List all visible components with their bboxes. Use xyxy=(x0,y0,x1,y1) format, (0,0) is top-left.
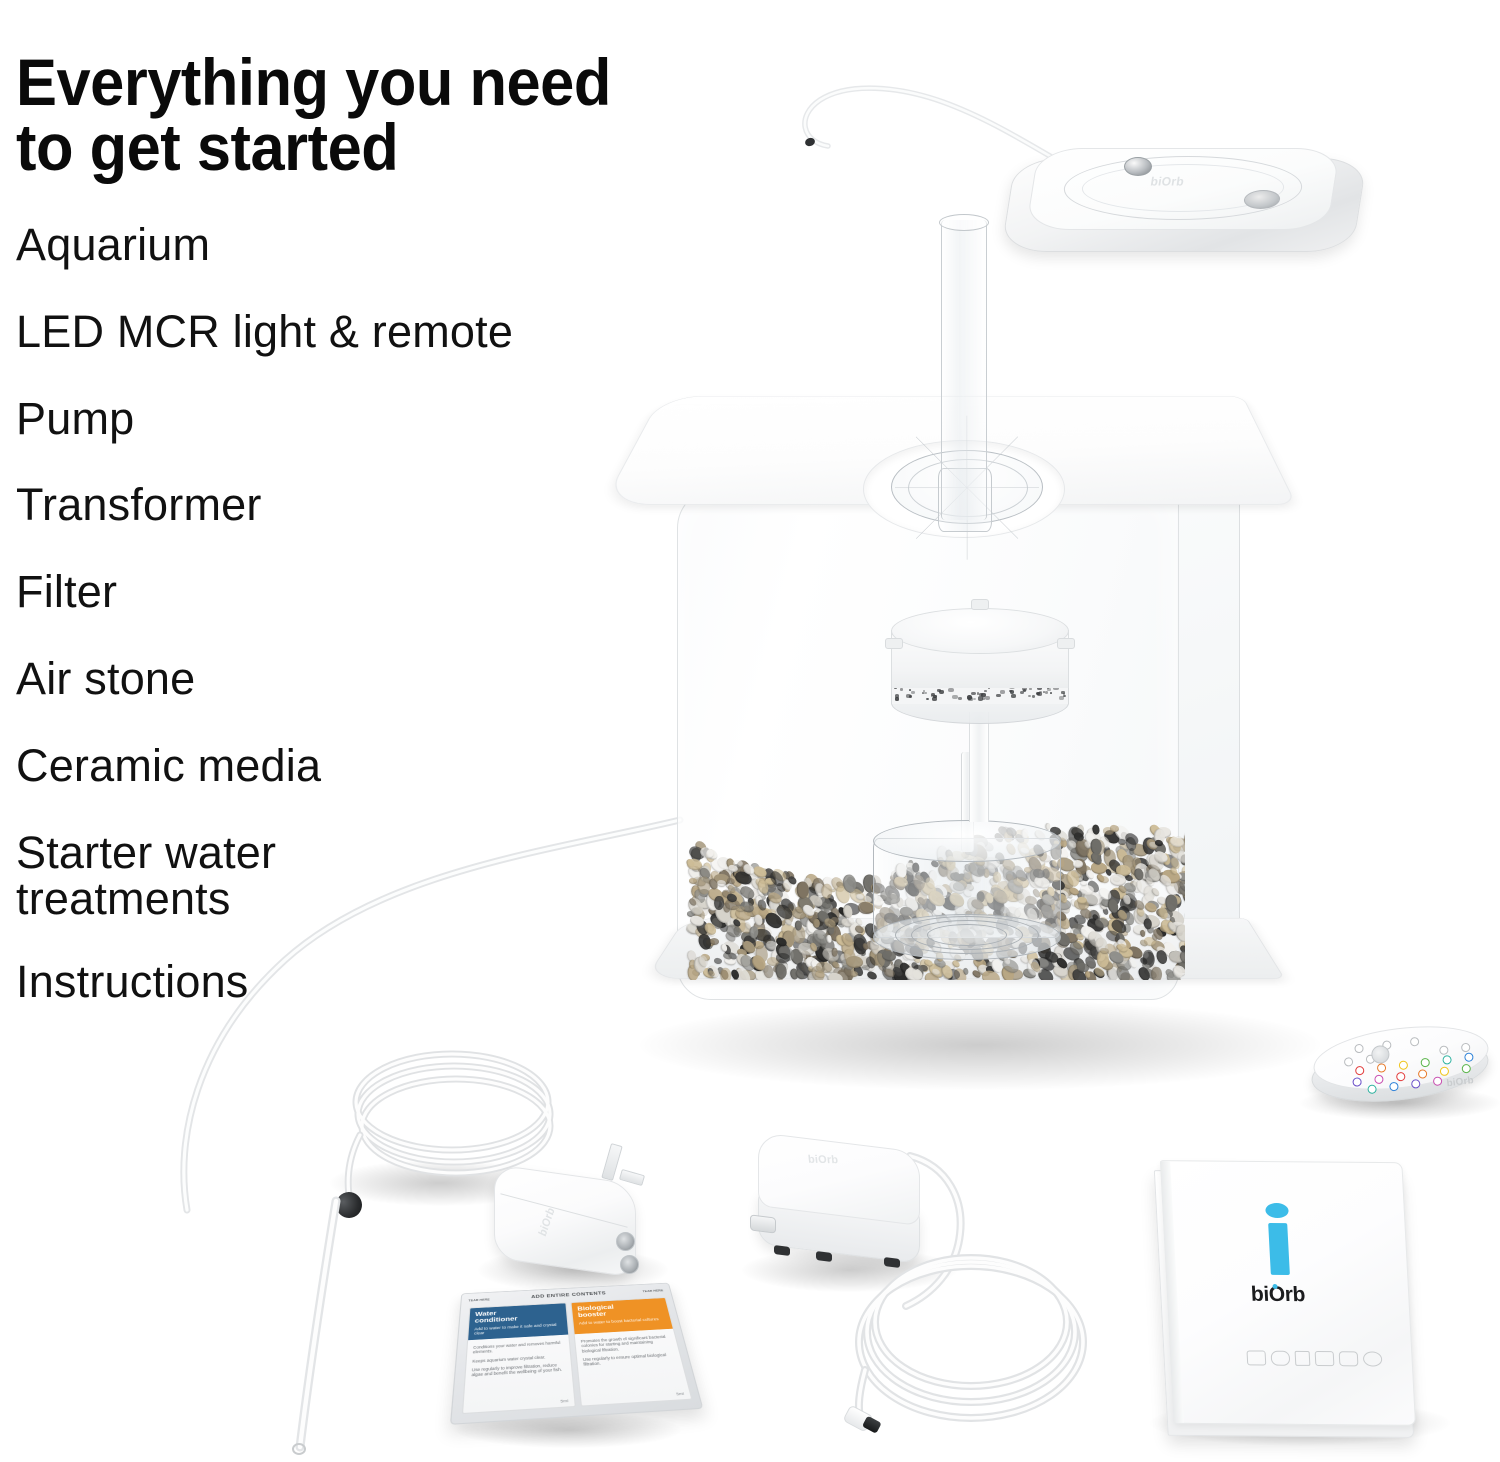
product-outline-icon-5 xyxy=(1339,1351,1359,1366)
remote-button[interactable] xyxy=(1352,1077,1362,1087)
ceramic-pebble xyxy=(866,970,878,980)
list-item-starter-water-treatments: Starter water treatments xyxy=(16,830,716,924)
remote-button[interactable] xyxy=(1374,1074,1384,1084)
list-item-filter: Filter xyxy=(16,569,716,616)
ceramic-pebble xyxy=(1154,839,1163,846)
carbon-granule xyxy=(1011,694,1016,698)
carbon-granule xyxy=(1010,690,1015,694)
list-item-ceramic-media: Ceramic media xyxy=(16,743,716,790)
biorb-logo-o: O xyxy=(1268,1283,1285,1307)
list-item-aquarium: Aquarium xyxy=(16,222,716,269)
included-items-list: Aquarium LED MCR light & remote Pump Tra… xyxy=(16,222,716,1046)
carbon-granule xyxy=(1028,695,1031,697)
biorb-logo: biOrb xyxy=(1446,1075,1474,1089)
carbon-granule xyxy=(984,690,986,692)
booklet-product-icon-row xyxy=(1246,1350,1382,1366)
sachet-right-bullet-1: Promotes the growth of significant bacte… xyxy=(581,1334,673,1353)
remote-button[interactable] xyxy=(1410,1037,1420,1047)
carbon-granule xyxy=(978,696,984,700)
list-item-instructions: Instructions xyxy=(16,959,716,1006)
list-item-pump: Pump xyxy=(16,396,716,443)
carbon-granule xyxy=(1020,691,1024,695)
remote-button[interactable] xyxy=(1355,1066,1365,1076)
ceramic-pebble xyxy=(1098,875,1109,884)
carbon-granule xyxy=(1047,688,1051,691)
list-item-led-mcr-light-remote: LED MCR light & remote xyxy=(16,309,716,356)
transformer-output-socket-2 xyxy=(620,1255,639,1274)
remote-button[interactable] xyxy=(1344,1057,1354,1067)
sachet-water-conditioner: Water conditioner Add to water to make i… xyxy=(462,1302,576,1414)
sachet-biological-booster: Biological booster Add to water to boost… xyxy=(570,1297,692,1406)
led-mcr-light-module: biOrb xyxy=(1008,140,1358,260)
ceramic-pebble xyxy=(1073,860,1084,868)
filter-clip-top xyxy=(971,599,989,610)
carbon-granule xyxy=(977,692,980,694)
remote-button[interactable] xyxy=(1398,1060,1408,1070)
remote-button[interactable] xyxy=(1439,1045,1449,1055)
carbon-granule xyxy=(911,691,915,694)
sachet-left-bullet-3: Use regularly to improve filtration, red… xyxy=(471,1362,566,1378)
filter-cartridge xyxy=(891,608,1067,718)
list-item-air-stone: Air stone xyxy=(16,656,716,703)
tear-here-label-left: TEAR HERE xyxy=(466,1299,493,1303)
carbon-granule xyxy=(1000,690,1005,694)
ceramic-pebble xyxy=(831,947,838,956)
remote-button[interactable] xyxy=(1377,1063,1387,1073)
sachet-right-weight: 5ml xyxy=(676,1391,685,1397)
biorb-logo: biOrb xyxy=(1250,1283,1305,1307)
instruction-booklet: biOrb xyxy=(1155,1155,1455,1455)
transformer-body xyxy=(494,1164,636,1278)
led-remote-control: biOrb xyxy=(1305,1018,1495,1118)
information-i-icon xyxy=(1265,1203,1292,1275)
starter-water-treatment-sachets: ADD ENTIRE CONTENTS TEAR HERE TEAR HERE … xyxy=(462,1288,672,1448)
air-stone-tube xyxy=(278,1195,358,1462)
remote-button[interactable] xyxy=(1354,1044,1364,1054)
carbon-granule xyxy=(924,692,926,694)
ceramic-pebble xyxy=(714,958,723,965)
ceramic-pebble xyxy=(776,953,790,963)
remote-button[interactable] xyxy=(1442,1055,1452,1065)
carbon-granule xyxy=(958,697,962,700)
ceramic-pebble xyxy=(710,938,719,945)
sachet-pack-backing: ADD ENTIRE CONTENTS TEAR HERE TEAR HERE … xyxy=(450,1283,704,1425)
carbon-granule xyxy=(996,694,1000,697)
carbon-granule xyxy=(939,690,944,694)
plug-pin-right xyxy=(619,1169,645,1186)
air-pump-outlet-nozzle xyxy=(750,1214,776,1233)
filter-clip-left xyxy=(885,638,903,649)
riser-tube-rim xyxy=(939,214,989,231)
remote-button[interactable] xyxy=(1461,1043,1471,1053)
product-outline-icon-2 xyxy=(1271,1351,1291,1366)
led-light-cable-gland xyxy=(1124,157,1152,176)
power-cable-coil-icon xyxy=(845,1250,1095,1450)
riser-tube xyxy=(941,220,987,520)
sachet-right-band: Biological booster Add to water to boost… xyxy=(572,1298,673,1334)
carbon-granule xyxy=(926,698,929,701)
power-cable-coil xyxy=(845,1250,1095,1450)
carbon-granule xyxy=(973,698,976,701)
carbon-granule xyxy=(1061,691,1065,694)
air-stone-tube-icon xyxy=(278,1195,358,1462)
ceramic-pebble xyxy=(1151,967,1163,980)
list-item-transformer: Transformer xyxy=(16,482,716,529)
product-outline-icon-3 xyxy=(1295,1351,1311,1366)
base-dome-grid-3 xyxy=(927,924,1007,946)
base-dome-top-rim xyxy=(873,820,1061,862)
aquarium-tank xyxy=(655,390,1255,1070)
sachet-left-band: Water conditioner Add to water to make i… xyxy=(468,1303,568,1340)
product-infographic: Everything you need to get started Aquar… xyxy=(0,0,1500,1462)
transformer-output-socket-1 xyxy=(616,1232,635,1251)
carbon-granule xyxy=(952,695,957,699)
carbon-granule xyxy=(1029,688,1031,690)
remote-button[interactable] xyxy=(1464,1052,1474,1062)
ceramic-pebble xyxy=(689,877,697,883)
filter-cartridge-top xyxy=(891,608,1069,654)
remote-button[interactable] xyxy=(1439,1066,1449,1076)
air-pump-foot-mid xyxy=(816,1251,832,1262)
sachet-left-body: Conditions your water and removes harmfu… xyxy=(465,1336,572,1386)
carbon-granule xyxy=(922,692,925,694)
filter-down-tube xyxy=(969,712,989,822)
biorb-logo-suffix: rb xyxy=(1284,1283,1305,1306)
biorb-logo: biOrb xyxy=(807,1154,838,1167)
remote-button[interactable] xyxy=(1418,1069,1428,1079)
filter-clip-right xyxy=(1057,638,1075,649)
carbon-granule xyxy=(909,695,913,698)
product-outline-icon-1 xyxy=(1246,1350,1266,1365)
carbon-granule xyxy=(1059,696,1064,700)
page-title: Everything you need to get started xyxy=(16,50,834,179)
carbon-granule xyxy=(895,694,900,698)
carbon-granule xyxy=(1032,695,1036,698)
aquarium-right-panel xyxy=(1177,424,1240,964)
information-i-dot xyxy=(1265,1203,1289,1218)
carbon-granule xyxy=(1045,691,1048,694)
carbon-granule xyxy=(1050,692,1053,694)
biorb-logo: biOrb xyxy=(1149,175,1184,188)
remote-button[interactable] xyxy=(1396,1072,1406,1082)
remote-button[interactable] xyxy=(1420,1058,1430,1068)
filter-base-dome xyxy=(873,820,1059,970)
sachet-right-bullet-2: Use regularly to ensure optimal biologic… xyxy=(583,1352,676,1367)
transformer-plug: biOrb xyxy=(488,1150,658,1285)
air-pump-foot-left xyxy=(774,1245,790,1256)
sachet-left-bullet-1: Conditions your water and removes harmfu… xyxy=(473,1340,564,1355)
ceramic-pebble xyxy=(1091,824,1100,835)
carbon-granule xyxy=(900,688,903,691)
carbon-granule xyxy=(971,692,976,696)
product-outline-icon-4 xyxy=(1315,1351,1335,1366)
sachet-right-body: Promotes the growth of significant bacte… xyxy=(575,1330,684,1375)
information-i-stem xyxy=(1268,1223,1290,1275)
product-outline-icon-6 xyxy=(1363,1351,1383,1366)
sachet-left-weight: 5ml xyxy=(560,1398,568,1404)
carbon-granule xyxy=(985,696,990,700)
biorb-logo-prefix: bi xyxy=(1250,1283,1269,1306)
carbon-granule xyxy=(948,688,953,692)
tear-here-label-right: TEAR HERE xyxy=(640,1290,667,1294)
